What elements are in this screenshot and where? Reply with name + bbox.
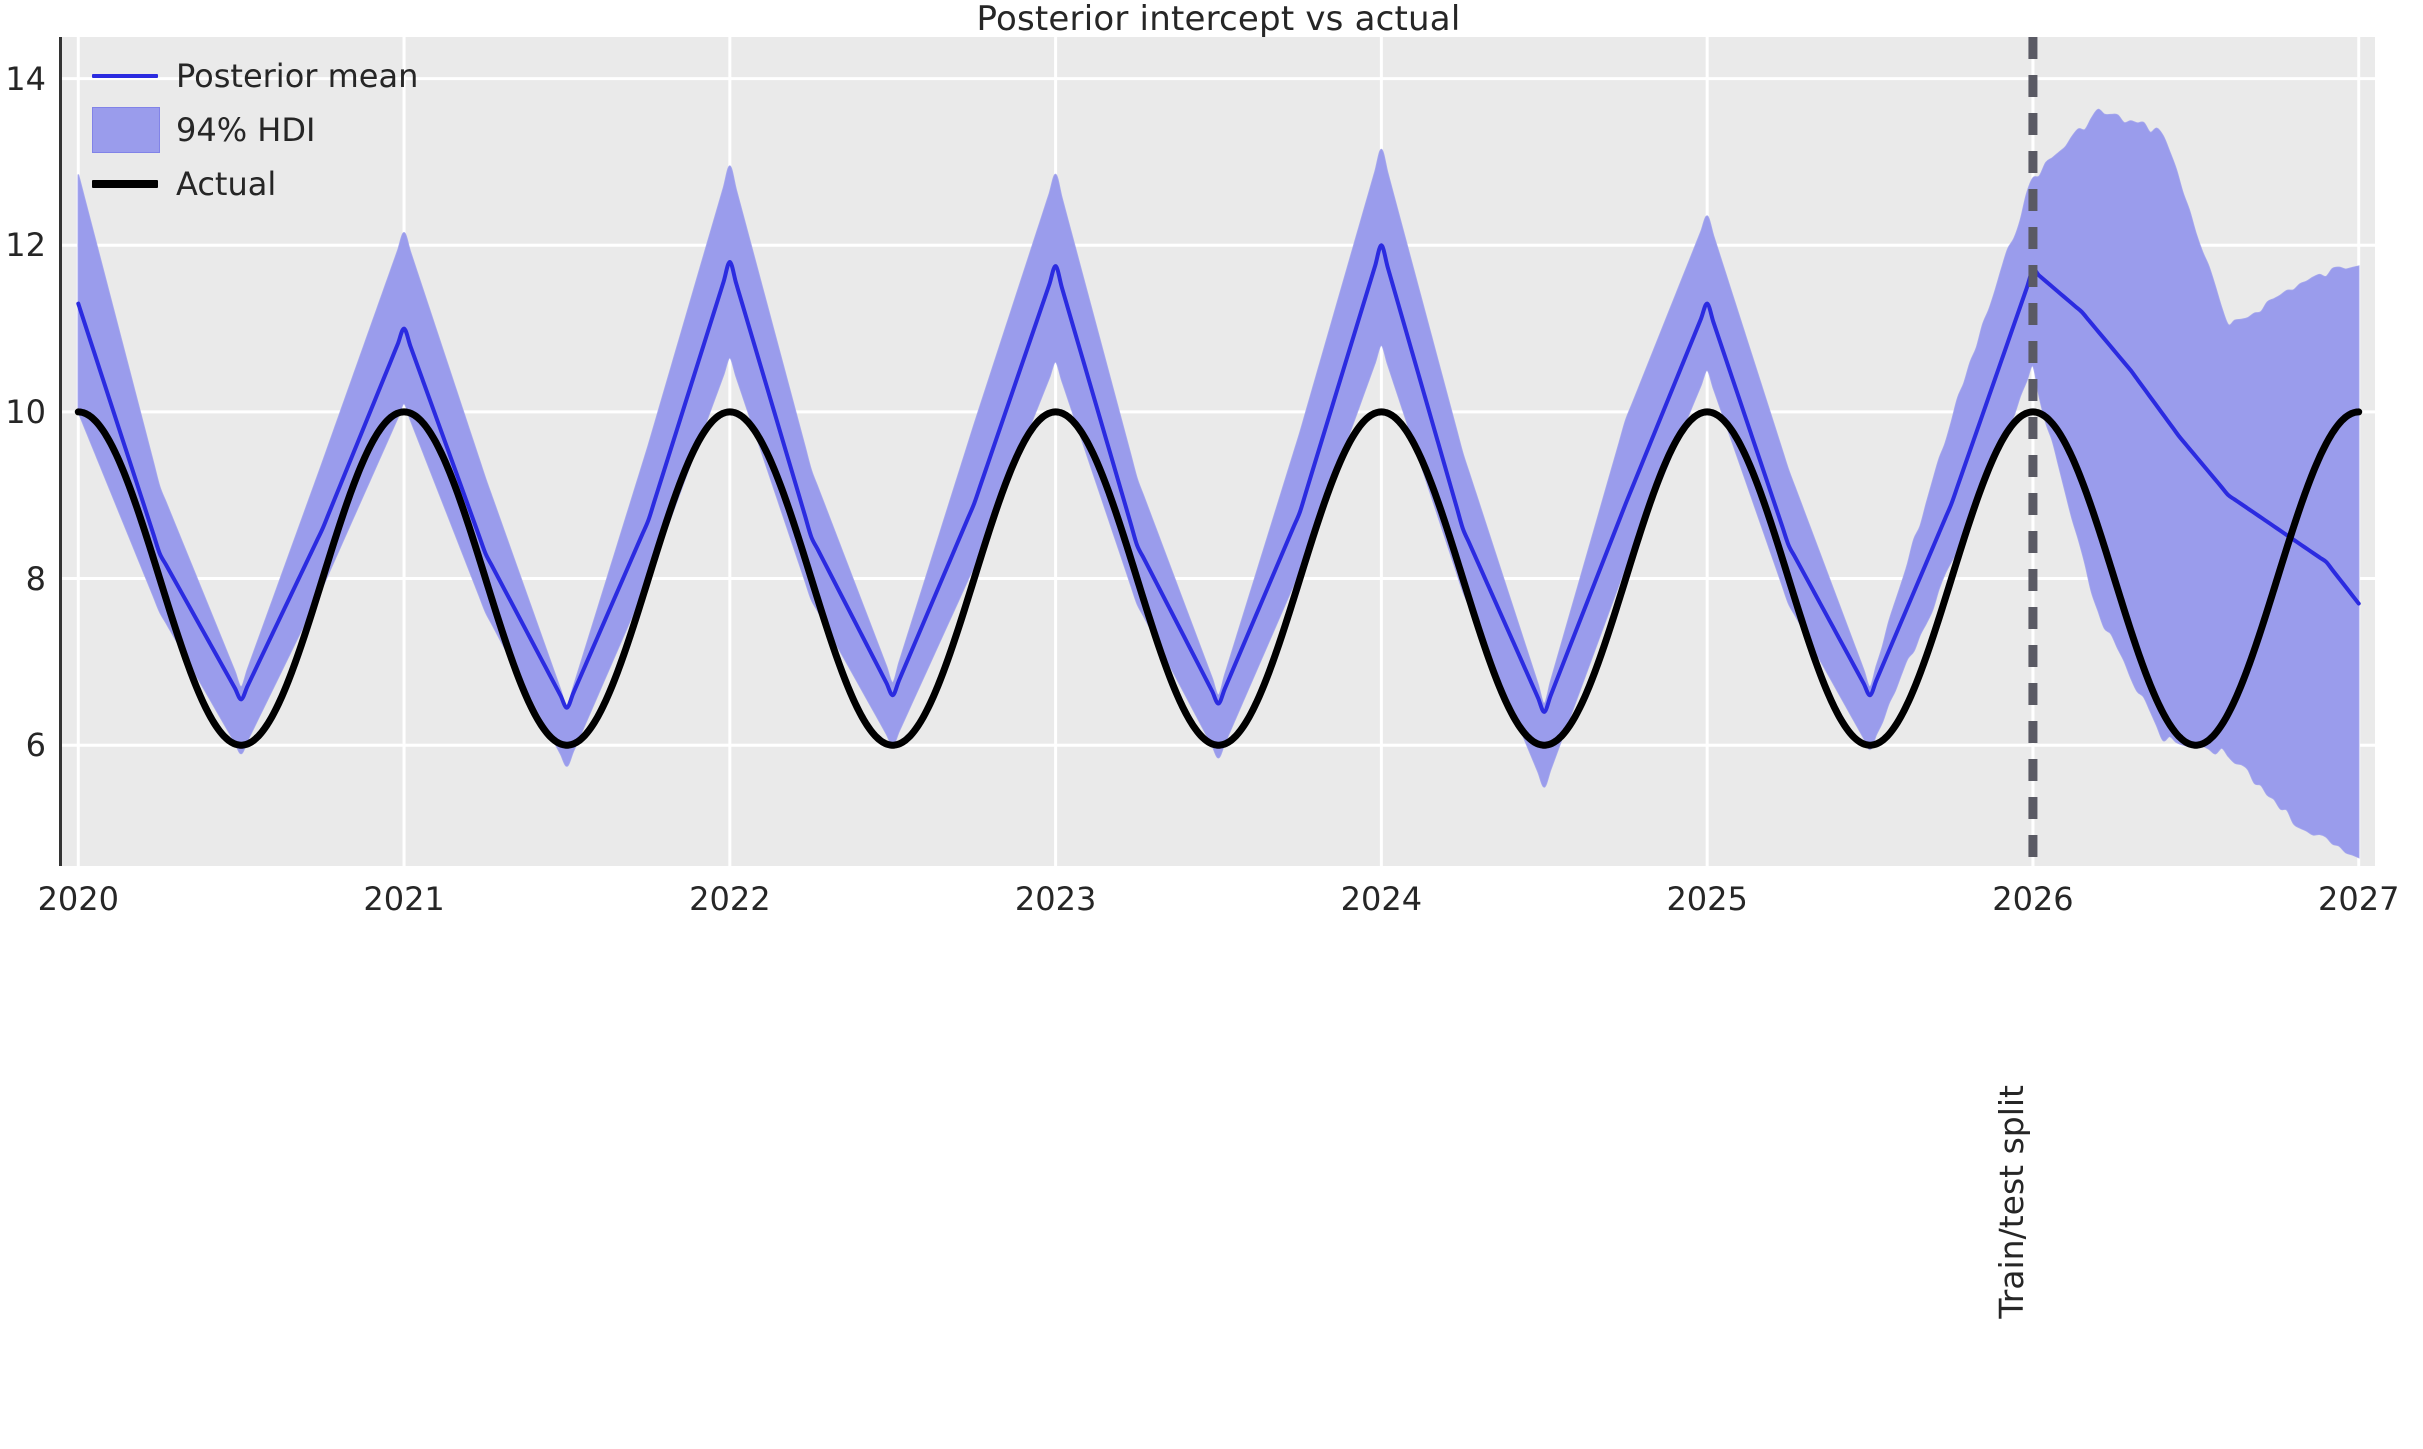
legend-key-black-line-icon	[92, 171, 158, 197]
x-tick-label: 2023	[1015, 880, 1096, 918]
legend-item-hdi: 94% HDI	[92, 110, 418, 150]
x-tick-label: 2022	[689, 880, 770, 918]
x-tick-label: 2025	[1666, 880, 1747, 918]
legend-label-actual: Actual	[176, 168, 276, 200]
y-tick-label: 14	[0, 60, 46, 98]
train-test-split-label: Train/test split	[1992, 1085, 2031, 1319]
legend-key-line-icon	[92, 63, 158, 89]
legend-key-patch-icon	[92, 117, 158, 143]
page-title: Posterior intercept vs actual	[62, 0, 2375, 37]
y-tick-label: 6	[0, 726, 46, 764]
x-tick-label: 2024	[1341, 880, 1422, 918]
y-axis-spine	[59, 37, 62, 866]
y-tick-label: 10	[0, 393, 46, 431]
y-tick-label: 12	[0, 226, 46, 264]
y-tick-label: 8	[0, 560, 46, 598]
legend-label-posterior-mean: Posterior mean	[176, 60, 418, 92]
x-tick-label: 2027	[2318, 880, 2399, 918]
x-tick-label: 2021	[363, 880, 444, 918]
legend-label-hdi: 94% HDI	[176, 114, 315, 146]
legend-item-actual: Actual	[92, 164, 418, 204]
x-tick-label: 2020	[38, 880, 119, 918]
legend-item-posterior-mean: Posterior mean	[92, 56, 418, 96]
legend: Posterior mean 94% HDI Actual	[86, 52, 428, 210]
x-tick-label: 2026	[1992, 880, 2073, 918]
figure-canvas: Posterior intercept vs actual 68101214 2…	[0, 0, 2423, 1449]
